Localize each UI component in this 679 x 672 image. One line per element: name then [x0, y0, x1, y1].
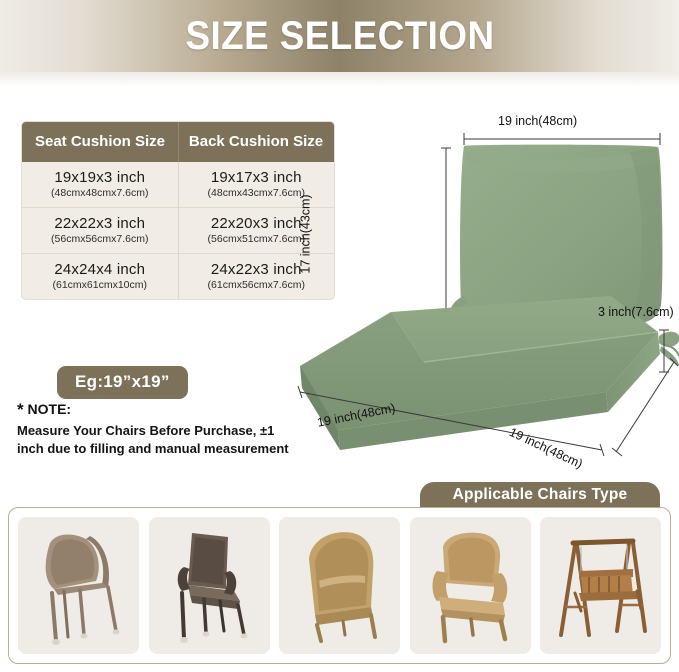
chair-card[interactable]: [18, 517, 139, 654]
asterisk-icon: *: [17, 400, 24, 419]
seat-size-inch: 19x19x3 inch: [26, 169, 174, 186]
dimension-label-back-width: 19 inch(48cm): [498, 114, 577, 128]
applicable-chairs-label: Applicable Chairs Type: [453, 486, 628, 504]
chair-card[interactable]: [279, 517, 400, 654]
seat-size-cell: 22x22x3 inch (56cmx56cmx7.6cm): [22, 208, 178, 254]
seat-size-cm: (61cmx61cmx10cm): [26, 279, 174, 291]
dimension-label-thickness: 3 inch(7.6cm): [598, 305, 674, 319]
note-body: Measure Your Chairs Before Purchase, ±1 …: [17, 422, 297, 459]
chair-card[interactable]: [540, 517, 661, 654]
seat-size-cell: 19x19x3 inch (48cmx48cmx7.6cm): [22, 162, 178, 208]
seat-cushion-tie-bow: [659, 332, 679, 366]
natural-wicker-club-arm-chair-icon: [415, 523, 525, 648]
dimension-line-back-height: [441, 148, 451, 326]
dimension-label-back-height: 17 inch(43cm): [299, 194, 313, 273]
page-header-banner: SIZE SELECTION: [0, 0, 679, 72]
wooden-porch-swing-icon: [545, 523, 657, 648]
banner-fade: [0, 72, 679, 86]
tan-wicker-barrel-chair-icon: [285, 523, 395, 648]
seat-size-cell: 24x24x4 inch (61cmx61cmx10cm): [22, 254, 178, 300]
seat-size-cm: (48cmx48cmx7.6cm): [26, 187, 174, 199]
cushion-diagram: 19 inch(48cm) 17 inch(43cm) 3 inch(7.6cm…: [278, 100, 679, 475]
rattan-round-back-arm-chair-icon: [24, 523, 134, 648]
seat-size-inch: 24x24x4 inch: [26, 261, 174, 278]
seat-size-inch: 22x22x3 inch: [26, 215, 174, 232]
note-heading: * NOTE:: [17, 400, 297, 420]
chair-card[interactable]: [149, 517, 270, 654]
applicable-chairs-tab: Applicable Chairs Type: [420, 482, 660, 508]
chair-card[interactable]: [410, 517, 531, 654]
seat-size-cm: (56cmx56cmx7.6cm): [26, 233, 174, 245]
dimension-line-back-width: [464, 133, 660, 145]
page-title: SIZE SELECTION: [185, 14, 494, 59]
example-size-badge: Eg:19”x19”: [57, 366, 188, 399]
applicable-chairs-panel: [8, 507, 671, 664]
column-header-seat-cushion: Seat Cushion Size: [22, 122, 178, 162]
dark-wicker-high-back-arm-chair-icon: [154, 523, 264, 648]
note-heading-label: NOTE:: [28, 401, 72, 417]
note-block: * NOTE: Measure Your Chairs Before Purch…: [17, 400, 297, 459]
